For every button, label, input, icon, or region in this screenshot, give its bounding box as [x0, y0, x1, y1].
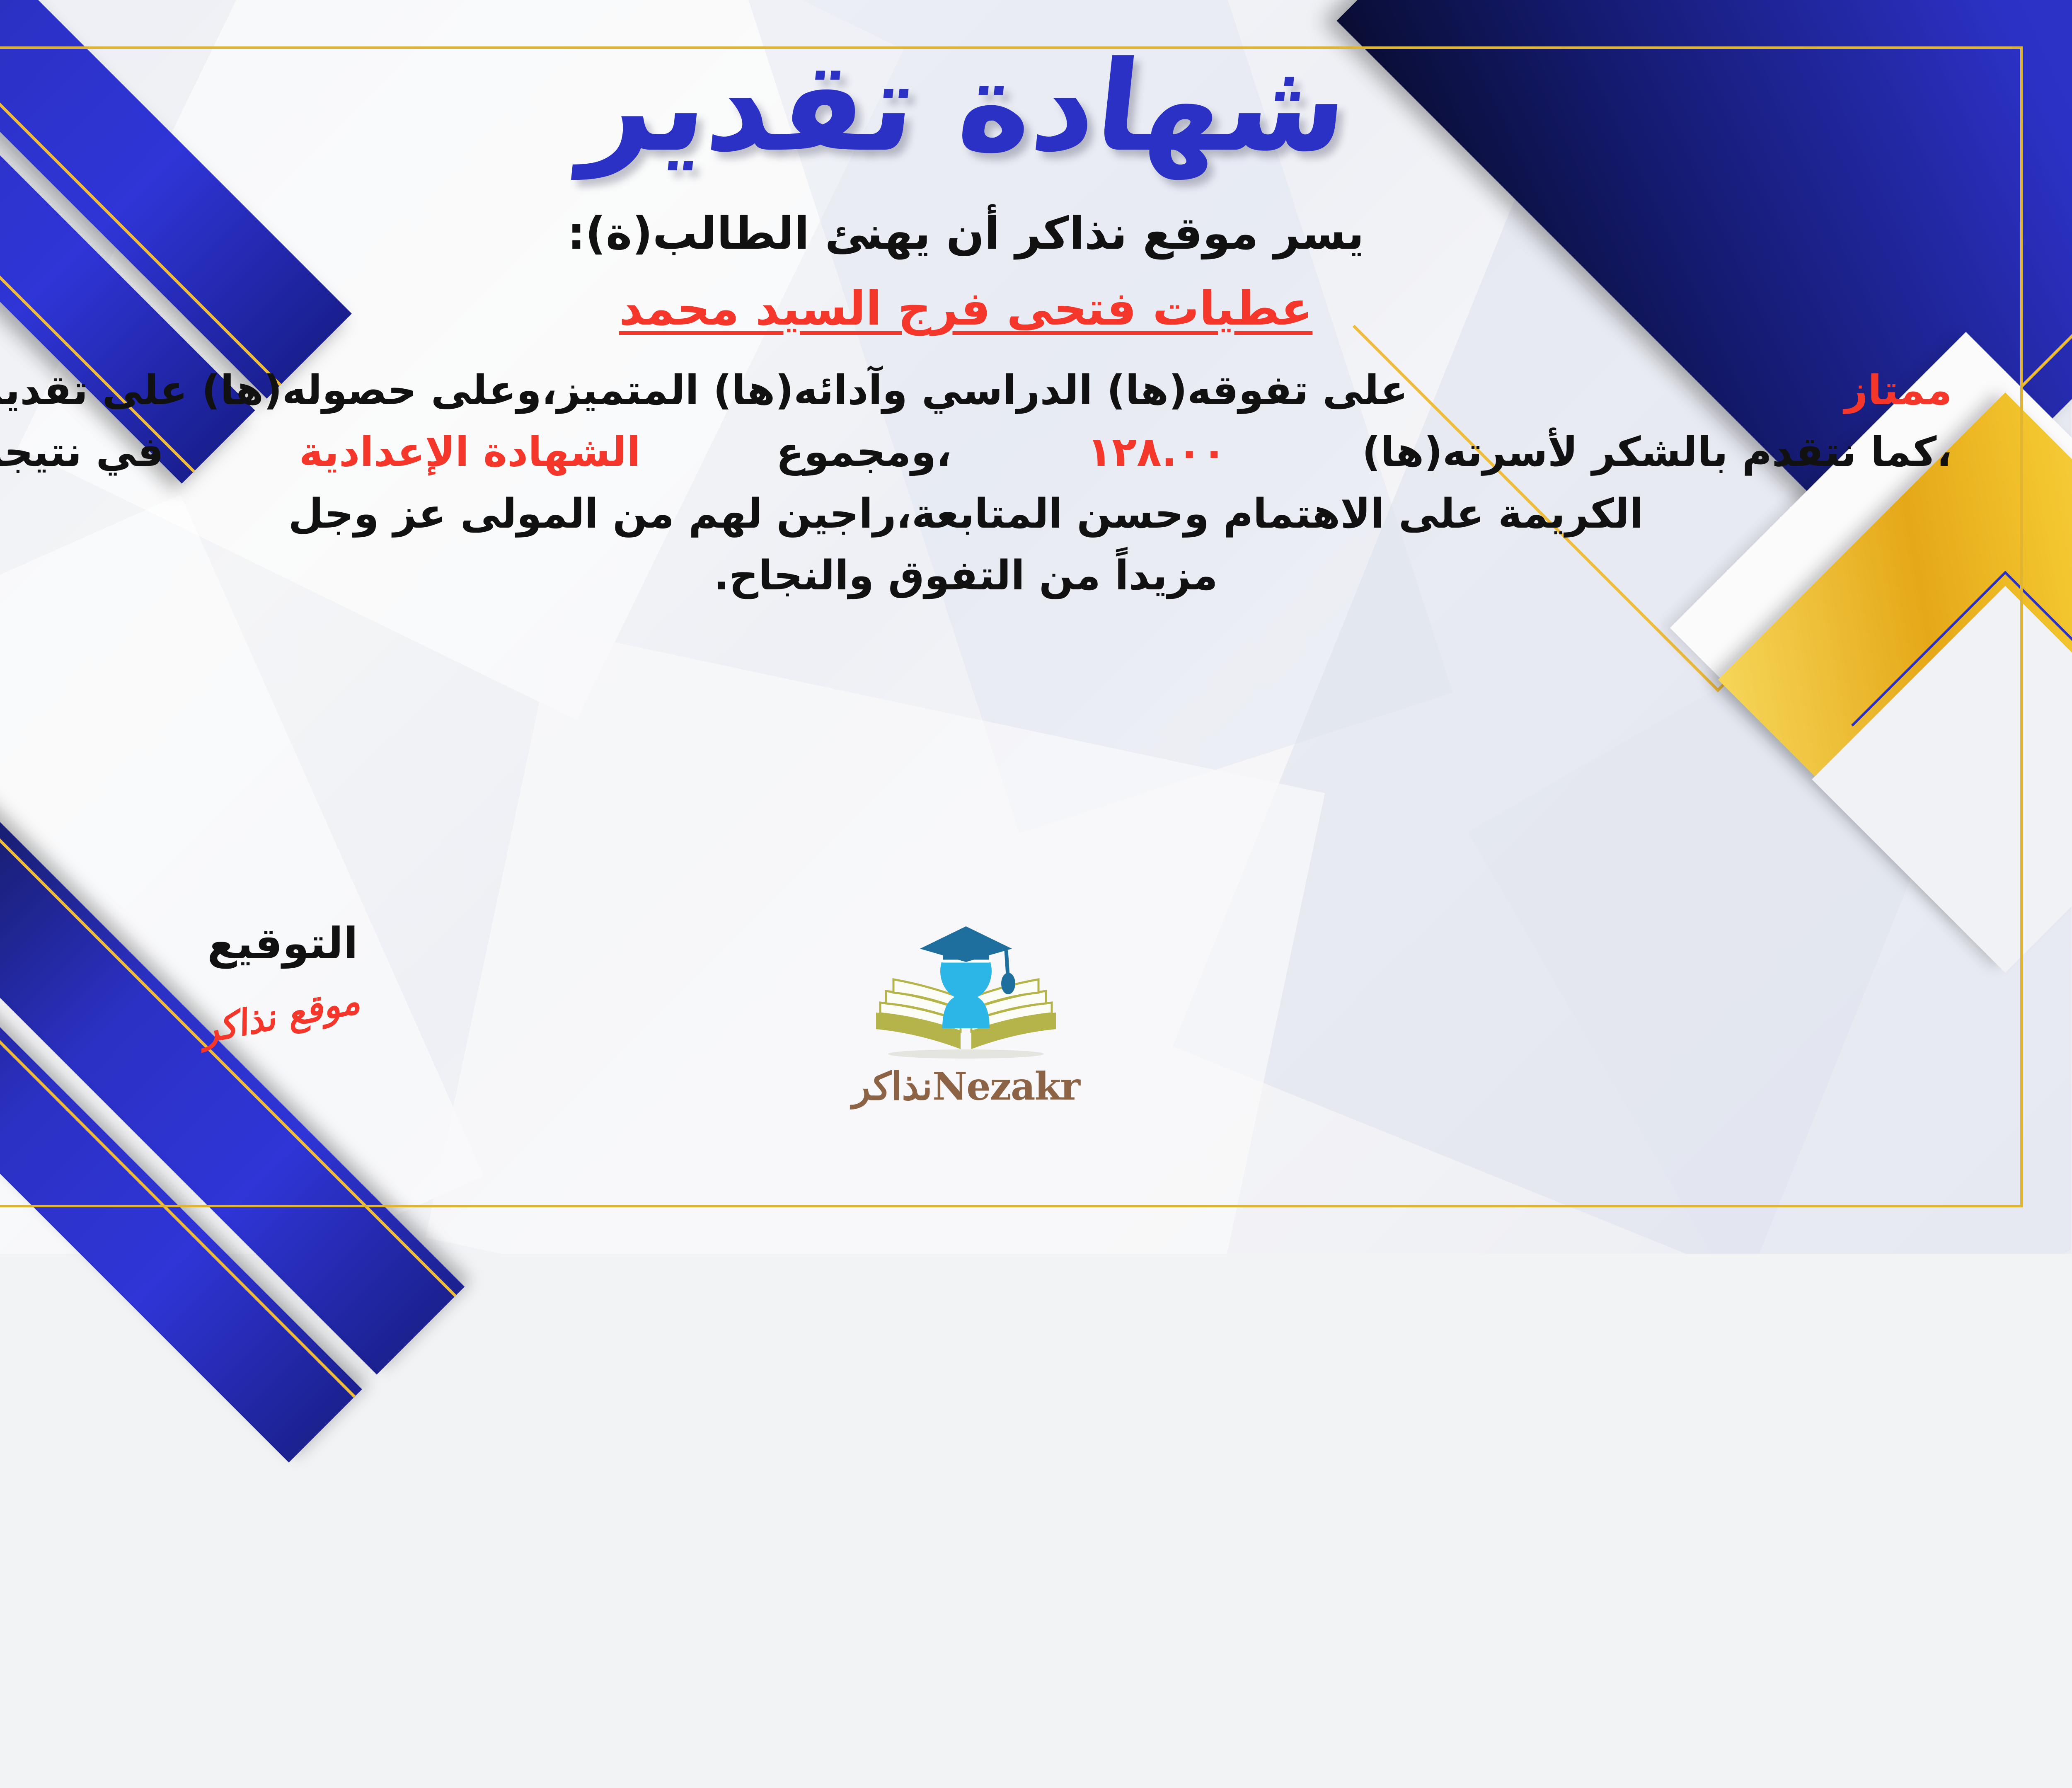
body-line-1: ممتاز على تفوقه(ها) الدراسي وآدائه(ها) ا…: [0, 360, 1953, 422]
logo-wordmark: Nezakrنذاكر: [809, 1064, 1124, 1109]
logo-arabic-text: نذاكر: [852, 1064, 933, 1109]
signature-mark: موقع نذاكر: [203, 979, 362, 1052]
student-name: عطيات فتحى فرج السيد محمد: [620, 282, 1313, 336]
graduate-book-icon: [809, 925, 1124, 1061]
body-line-4: مزيداً من التفوق والنجاح.: [0, 545, 1953, 607]
signature-label: التوقيع: [126, 918, 441, 969]
signature-block: التوقيع موقع نذاكر: [126, 918, 441, 1036]
grade-value: ممتاز: [1845, 360, 1953, 422]
certificate-footer: التوقيع موقع نذاكر: [0, 918, 2072, 1175]
logo-latin-text: Nezakr: [933, 1064, 1080, 1109]
body-line-2-tail: ،كما نتقدم بالشكر لأسرته(ها): [1363, 422, 1953, 483]
body-line-2: ،كما نتقدم بالشكر لأسرته(ها) ١٢٨.٠٠ ،ومج…: [0, 422, 1953, 483]
body-line-2-mid: ،ومجموع: [777, 422, 952, 483]
site-logo: Nezakrنذاكر: [809, 925, 1124, 1109]
total-score: ١٢٨.٠٠: [1087, 422, 1227, 483]
exam-name: الشهادة الإعدادية: [300, 422, 641, 483]
body-line-2-head: في نتيجة: [0, 422, 164, 483]
body-line-1-text: على تفوقه(ها) الدراسي وآدائه(ها) المتميز…: [0, 360, 1409, 422]
body-line-3: الكريمة على الاهتمام وحسن المتابعة،راجين…: [0, 483, 1953, 545]
page-title: شهادة تقدير: [578, 41, 1355, 172]
certificate-body: ممتاز على تفوقه(ها) الدراسي وآدائه(ها) ا…: [0, 360, 1953, 607]
greeting-text: يسر موقع نذاكر أن يهنئ الطالب(ة):: [568, 208, 1365, 259]
